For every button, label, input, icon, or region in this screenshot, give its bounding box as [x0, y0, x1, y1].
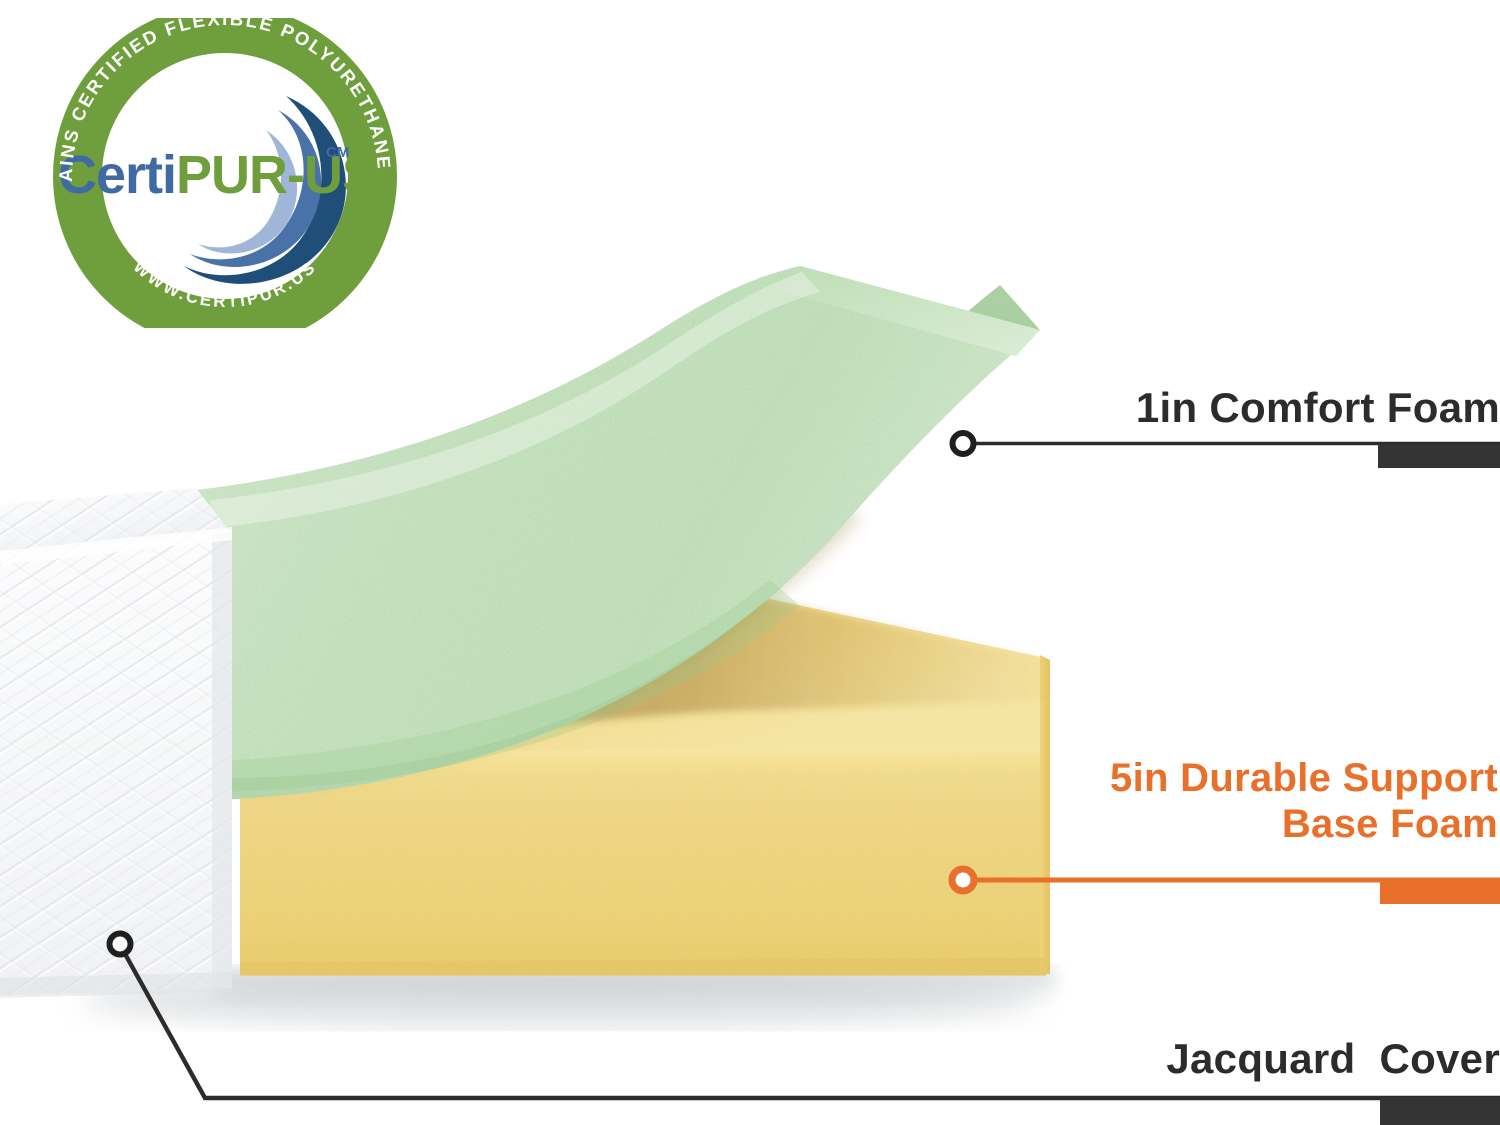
- connector-jacquard-cover: [110, 934, 1500, 1125]
- support-base-foam-layer: [240, 598, 1050, 976]
- trademark-cm: CM: [326, 144, 349, 161]
- label-support-foam-line2: Base Foam: [978, 801, 1498, 847]
- comfort-foam-layer: [196, 266, 1040, 800]
- connector-comfort-foam: [953, 433, 1500, 468]
- certipur-wordmark: CertiPUR-US CM: [58, 144, 377, 205]
- jacquard-cover-layer: [0, 488, 232, 998]
- label-comfort-foam: 1in Comfort Foam: [980, 384, 1500, 433]
- connector-support-foam: [952, 869, 1500, 904]
- ground-shadow: [80, 968, 1055, 1026]
- infographic-canvas: CertiPUR-US CM CONTAINS CERTIFIED FLEXIB…: [0, 0, 1500, 1125]
- label-jacquard-cover: Jacquard Cover: [980, 1035, 1500, 1084]
- certipur-us-badge: CertiPUR-US CM CONTAINS CERTIFIED FLEXIB…: [34, 18, 416, 328]
- label-support-foam: 5in Durable SupportBase Foam: [978, 755, 1498, 848]
- label-support-foam-line1: 5in Durable Support: [1110, 756, 1498, 800]
